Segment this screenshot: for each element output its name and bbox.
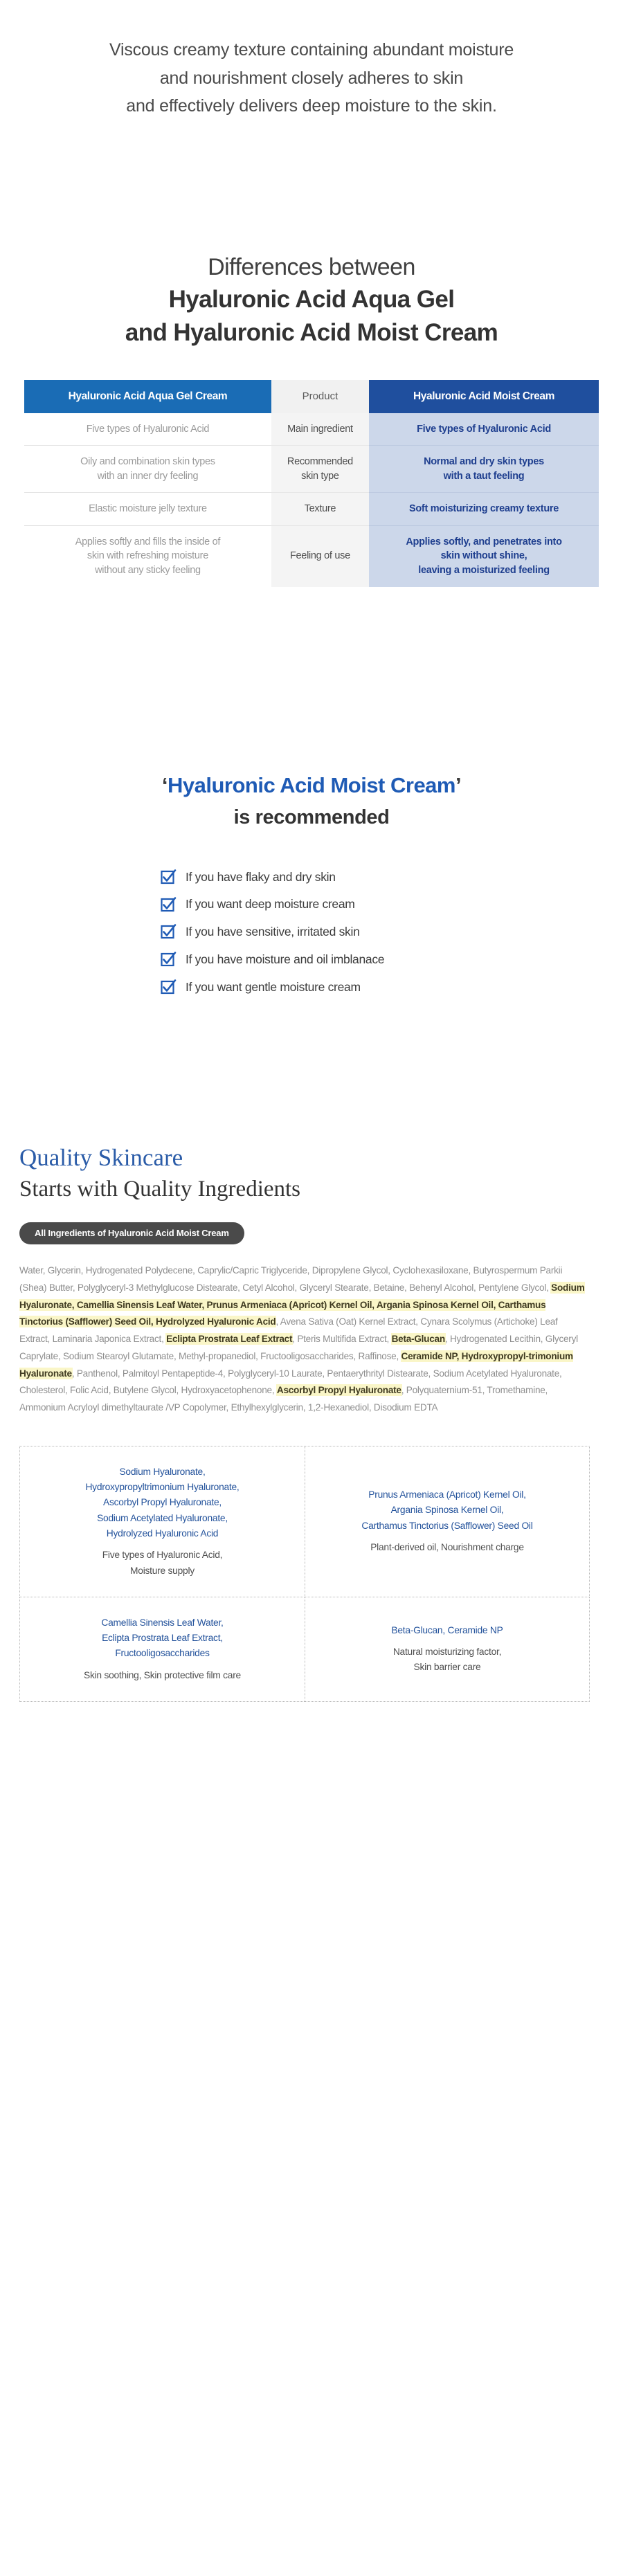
table-row: Elastic moisture jelly texture Texture S…: [24, 493, 599, 526]
column-header-moist-cream: Hyaluronic Acid Moist Cream: [369, 380, 599, 413]
differences-section: Differences between Hyaluronic Acid Aqua…: [0, 252, 623, 587]
column-header-product: Product: [271, 380, 369, 413]
cell-aqua-gel: Applies softly and fills the inside ofsk…: [24, 525, 271, 586]
key-ingredient-benefit: Skin soothing, Skin protective film care: [84, 1668, 241, 1683]
cell-aqua-gel: Elastic moisture jelly texture: [24, 493, 271, 526]
key-ingredient-names: Camellia Sinensis Leaf Water,Eclipta Pro…: [101, 1615, 223, 1662]
checkbox-checked-icon: [161, 924, 176, 939]
checklist-label: If you have sensitive, irritated skin: [186, 924, 360, 940]
differences-heading: Differences between Hyaluronic Acid Aqua…: [0, 252, 623, 350]
list-item: If you want gentle moisture cream: [161, 979, 471, 995]
key-ingredient-card-barrier: Beta-Glucan, Ceramide NP Natural moistur…: [305, 1597, 590, 1702]
page-bottom-spacer: [0, 1702, 623, 1837]
key-ingredient-names: Sodium Hyaluronate,Hydroxypropyltrimoniu…: [85, 1464, 239, 1542]
intro-line-2: and nourishment closely adheres to skin: [0, 64, 623, 93]
list-item: If you want deep moisture cream: [161, 896, 471, 912]
cell-attribute: Feeling of use: [271, 525, 369, 586]
product-detail-page: Viscous creamy texture containing abunda…: [0, 0, 623, 1837]
intro-line-3: and effectively delivers deep moisture t…: [0, 92, 623, 120]
quality-heading: Quality Skincare Starts with Quality Ing…: [0, 1143, 623, 1244]
comparison-table-wrapper: Hyaluronic Acid Aqua Gel Cream Product H…: [24, 380, 599, 587]
checklist-label: If you want deep moisture cream: [186, 896, 355, 912]
checkbox-checked-icon: [161, 979, 176, 995]
table-row: Five types of Hyaluronic Acid Main ingre…: [24, 413, 599, 446]
key-ingredient-names: Prunus Armeniaca (Apricot) Kernel Oil,Ar…: [361, 1487, 532, 1534]
key-ingredient-benefit: Natural moisturizing factor,Skin barrier…: [393, 1644, 501, 1675]
recommendation-subtitle: is recommended: [0, 803, 623, 833]
comparison-table-header-row: Hyaluronic Acid Aqua Gel Cream Product H…: [24, 380, 599, 413]
ingredient-text: Water, Glycerin, Hydrogenated Polydecene…: [19, 1265, 562, 1293]
ingredients-section: Quality Skincare Starts with Quality Ing…: [0, 1143, 623, 1701]
recommendation-product-name: Hyaluronic Acid Moist Cream: [168, 773, 455, 797]
recommendation-checklist: If you have flaky and dry skin If you wa…: [152, 869, 471, 995]
comparison-table: Hyaluronic Acid Aqua Gel Cream Product H…: [24, 380, 599, 587]
cell-aqua-gel: Oily and combination skin typeswith an i…: [24, 446, 271, 493]
cell-attribute: Texture: [271, 493, 369, 526]
checklist-label: If you want gentle moisture cream: [186, 979, 361, 995]
list-item: If you have moisture and oil imblanace: [161, 952, 471, 968]
differences-heading-line-1: Differences between: [0, 252, 623, 284]
intro-line-1: Viscous creamy texture containing abunda…: [0, 36, 623, 64]
highlighted-ingredient: Ascorbyl Propyl Hyaluronate: [277, 1385, 401, 1395]
list-item: If you have sensitive, irritated skin: [161, 924, 471, 940]
highlighted-ingredient: Beta-Glucan: [392, 1334, 445, 1344]
table-row: Applies softly and fills the inside ofsk…: [24, 525, 599, 586]
quote-close: ’: [455, 773, 461, 797]
all-ingredients-badge: All Ingredients of Hyaluronic Acid Moist…: [19, 1222, 244, 1244]
intro-section: Viscous creamy texture containing abunda…: [0, 0, 623, 120]
cell-attribute: Main ingredient: [271, 413, 369, 446]
cell-moist-cream: Soft moisturizing creamy texture: [369, 493, 599, 526]
recommendation-heading: ‘Hyaluronic Acid Moist Cream’ is recomme…: [0, 770, 623, 833]
cell-moist-cream: Applies softly, and penetrates intoskin …: [369, 525, 599, 586]
key-ingredient-card-oils: Prunus Armeniaca (Apricot) Kernel Oil,Ar…: [305, 1446, 590, 1597]
key-ingredient-card-hyaluronic: Sodium Hyaluronate,Hydroxypropyltrimoniu…: [19, 1446, 305, 1597]
list-item: If you have flaky and dry skin: [161, 869, 471, 885]
cell-aqua-gel: Five types of Hyaluronic Acid: [24, 413, 271, 446]
key-ingredients-grid: Sodium Hyaluronate,Hydroxypropyltrimoniu…: [19, 1446, 590, 1702]
recommendation-section: ‘Hyaluronic Acid Moist Cream’ is recomme…: [0, 770, 623, 995]
cell-attribute: Recommendedskin type: [271, 446, 369, 493]
quality-heading-line-2: Starts with Quality Ingredients: [19, 1174, 623, 1204]
cell-moist-cream: Normal and dry skin typeswith a taut fee…: [369, 446, 599, 493]
checkbox-checked-icon: [161, 897, 176, 912]
key-ingredient-benefit: Plant-derived oil, Nourishment charge: [370, 1540, 524, 1555]
differences-heading-line-2: Hyaluronic Acid Aqua Gel: [0, 283, 623, 316]
table-row: Oily and combination skin typeswith an i…: [24, 446, 599, 493]
key-ingredient-card-soothing: Camellia Sinensis Leaf Water,Eclipta Pro…: [19, 1597, 305, 1702]
checkbox-checked-icon: [161, 869, 176, 885]
comparison-table-body: Five types of Hyaluronic Acid Main ingre…: [24, 413, 599, 587]
ingredient-text: , Pteris Multifida Extract,: [292, 1334, 391, 1344]
quality-heading-line-1: Quality Skincare: [19, 1143, 623, 1172]
key-ingredient-names: Beta-Glucan, Ceramide NP: [391, 1623, 503, 1638]
checkbox-checked-icon: [161, 952, 176, 967]
checklist-label: If you have flaky and dry skin: [186, 869, 336, 885]
column-header-aqua-gel: Hyaluronic Acid Aqua Gel Cream: [24, 380, 271, 413]
full-ingredients-list: Water, Glycerin, Hydrogenated Polydecene…: [19, 1262, 590, 1417]
highlighted-ingredient: Eclipta Prostrata Leaf Extract: [166, 1334, 292, 1344]
key-ingredient-benefit: Five types of Hyaluronic Acid,Moisture s…: [102, 1548, 222, 1578]
checklist-label: If you have moisture and oil imblanace: [186, 952, 384, 968]
recommendation-title: ‘Hyaluronic Acid Moist Cream’: [0, 770, 623, 800]
differences-heading-line-3: and Hyaluronic Acid Moist Cream: [0, 316, 623, 350]
cell-moist-cream: Five types of Hyaluronic Acid: [369, 413, 599, 446]
quote-open: ‘: [162, 773, 168, 797]
